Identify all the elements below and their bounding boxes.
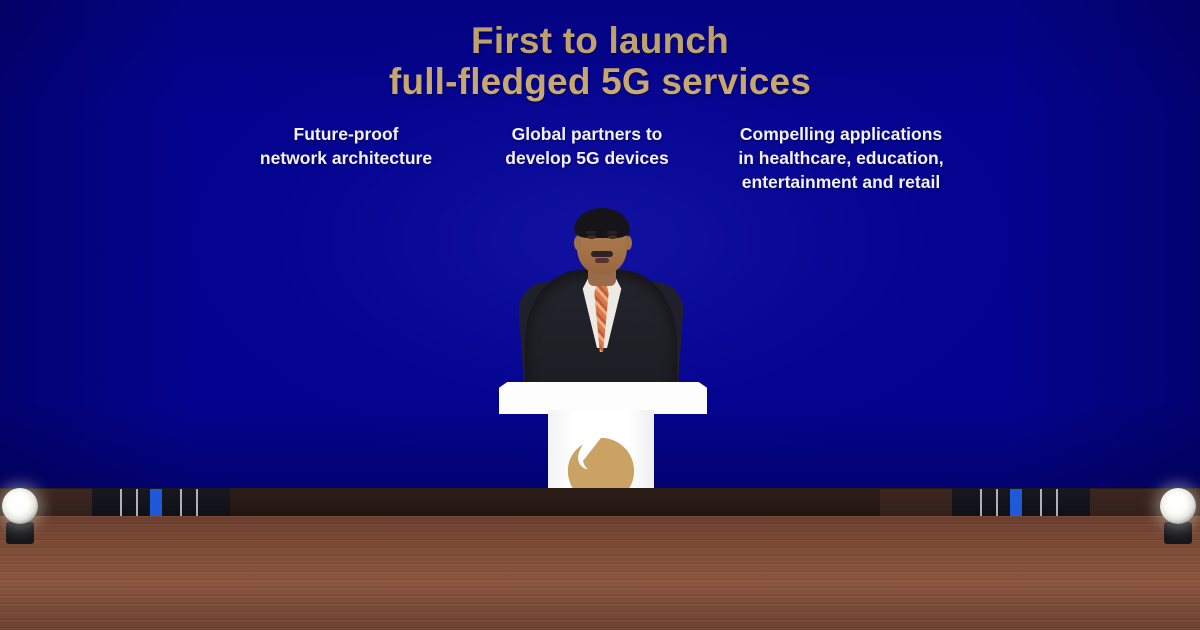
column-3-line-2: in healthcare, education, — [710, 146, 972, 170]
stage-light-lamp — [2, 488, 38, 524]
slide-title: First to launch full-fledged 5G services — [0, 20, 1200, 102]
stage-stripe-blue — [1010, 489, 1022, 517]
stage-stripe-white — [1040, 489, 1042, 517]
stage-stripe-white — [180, 489, 182, 517]
slide-columns: Future-proof network architecture Global… — [228, 122, 972, 194]
stage-stripe-white — [120, 489, 122, 517]
column-1-line-1: Future-proof — [228, 122, 464, 146]
stage-stripe-white — [196, 489, 198, 517]
speaker-eye-right — [608, 235, 617, 239]
column-3-line-1: Compelling applications — [710, 122, 972, 146]
stage-light-base — [6, 522, 34, 544]
slide-column-global-partners: Global partners to develop 5G devices — [479, 122, 695, 170]
speaker-eyebrow-left — [586, 231, 596, 234]
slide-column-future-proof-network: Future-proof network architecture — [228, 122, 464, 170]
speaker-hair — [574, 208, 630, 238]
slide-title-line-2: full-fledged 5G services — [0, 61, 1200, 102]
stage-stripe-white — [1056, 489, 1058, 517]
speaker-ear-right — [625, 236, 632, 250]
speaker-eye-left — [587, 235, 596, 239]
speaker-ear-left — [574, 236, 581, 250]
slide-column-compelling-applications: Compelling applications in healthcare, e… — [710, 122, 972, 194]
speaker-moustache — [591, 251, 613, 257]
column-2-line-1: Global partners to — [479, 122, 695, 146]
stage-stripe-blue — [150, 489, 162, 517]
speaker-figure — [519, 208, 683, 408]
speaker-mouth — [595, 258, 609, 263]
slide-title-line-1: First to launch — [0, 20, 1200, 61]
column-1-line-2: network architecture — [228, 146, 464, 170]
stage-light-lamp — [1160, 488, 1196, 524]
stage-floor — [0, 516, 1200, 630]
column-2-line-2: develop 5G devices — [479, 146, 695, 170]
stage-stripe-white — [980, 489, 982, 517]
speaker-eyebrow-right — [607, 231, 617, 234]
broadcast-frame: First to launch full-fledged 5G services… — [0, 0, 1200, 630]
stage-light-base — [1164, 522, 1192, 544]
column-3-line-3: entertainment and retail — [710, 170, 972, 194]
stage-stripe-white — [136, 489, 138, 517]
stage-stripe-white — [996, 489, 998, 517]
